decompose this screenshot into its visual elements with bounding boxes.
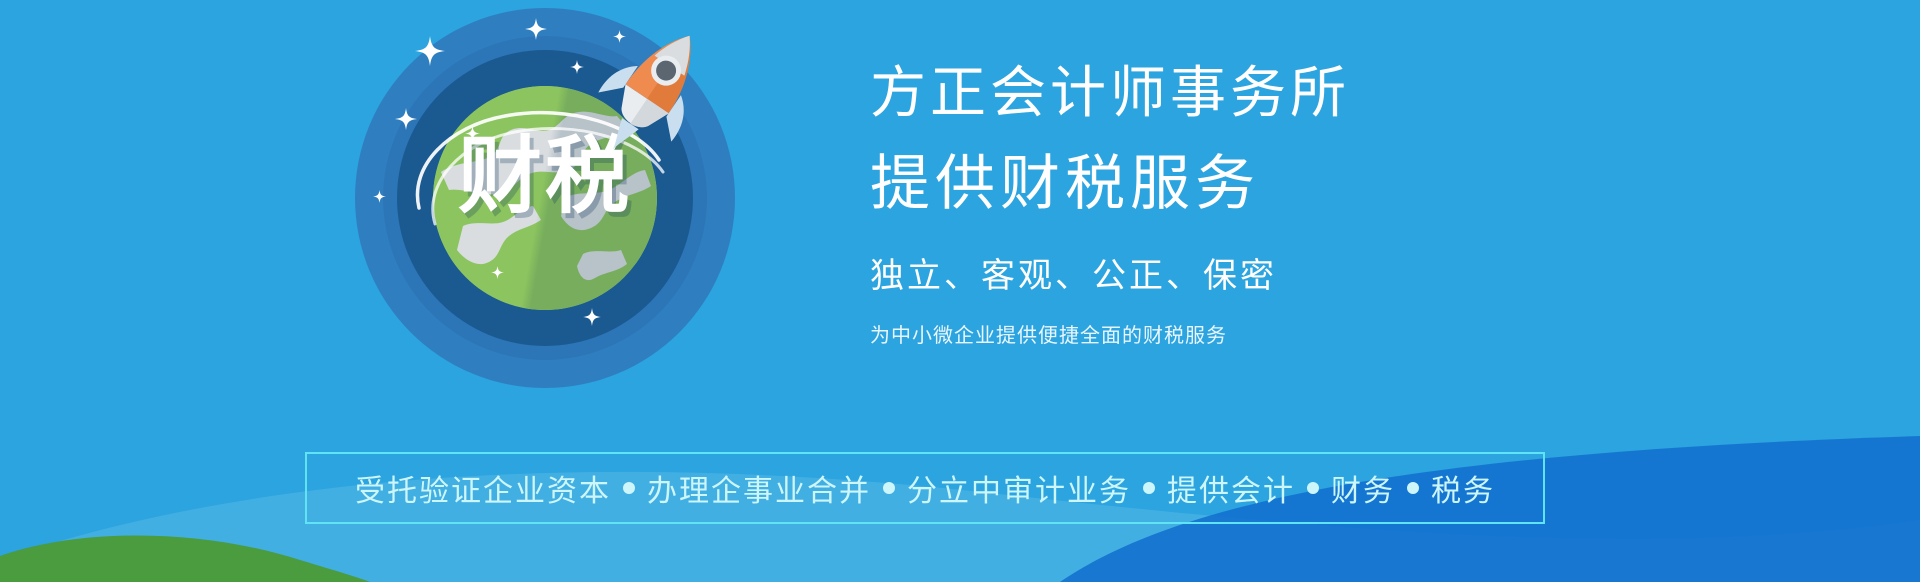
tagline: 为中小微企业提供便捷全面的财税服务 xyxy=(870,319,1490,348)
bullet-dot-icon xyxy=(1307,482,1319,494)
service-list-bar: 受托验证企业资本 办理企事业合并 分立中审计业务 提供会计 财务 税务 xyxy=(305,452,1545,524)
bullet-dot-icon xyxy=(883,482,895,494)
service-item-0[interactable]: 受托验证企业资本 xyxy=(355,466,611,510)
company-emblem: 财税 xyxy=(355,8,735,388)
subheadline: 独立、客观、公正、保密 xyxy=(870,248,1490,297)
service-item-2[interactable]: 分立中审计业务 xyxy=(907,466,1131,510)
headline-primary: 方正会计师事务所 xyxy=(870,60,1490,128)
headline-block: 方正会计师事务所 提供财税服务 独立、客观、公正、保密 为中小微企业提供便捷全面… xyxy=(870,60,1490,348)
promo-banner: 财税 xyxy=(0,0,1920,582)
service-item-3[interactable]: 提供会计 xyxy=(1167,466,1295,510)
service-item-4[interactable]: 财务 xyxy=(1331,466,1395,510)
headline-secondary: 提供财税服务 xyxy=(870,148,1490,221)
service-item-5[interactable]: 税务 xyxy=(1431,466,1495,510)
bullet-dot-icon xyxy=(1407,482,1419,494)
service-list: 受托验证企业资本 办理企事业合并 分立中审计业务 提供会计 财务 税务 xyxy=(355,466,1495,510)
bullet-dot-icon xyxy=(1143,482,1155,494)
bullet-dot-icon xyxy=(623,482,635,494)
service-item-1[interactable]: 办理企事业合并 xyxy=(647,466,871,510)
rocket-icon xyxy=(591,18,711,168)
